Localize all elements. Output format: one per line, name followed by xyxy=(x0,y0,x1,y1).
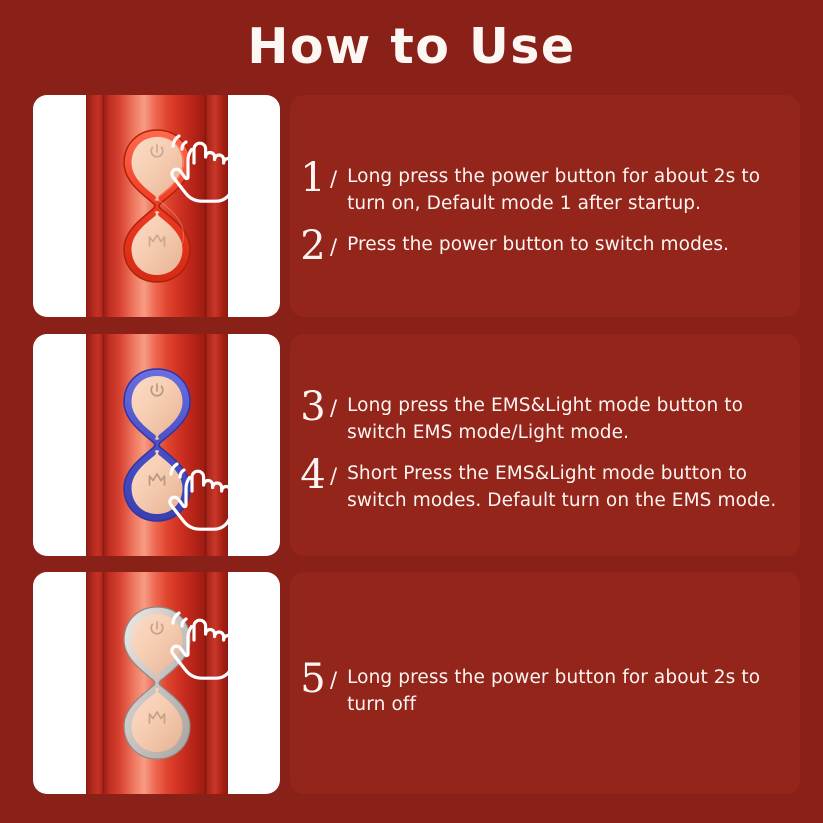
step-item: 3 / Long press the EMS&Light mode button… xyxy=(298,392,782,446)
step-item: 5 / Long press the power button for abou… xyxy=(298,664,782,718)
tap-hand-icon-1 xyxy=(169,130,247,210)
ems-light-icon[interactable] xyxy=(146,709,167,731)
power-icon[interactable] xyxy=(148,382,165,406)
device-photo-step-3 xyxy=(33,572,280,794)
device-photo-step-2 xyxy=(33,334,280,556)
instruction-text-panel-1: 1 / Long press the power button for abou… xyxy=(290,95,800,317)
instruction-row-2: 3 / Long press the EMS&Light mode button… xyxy=(0,334,823,559)
step-number: 2 xyxy=(298,227,328,265)
step-text: Long press the power button for about 2s… xyxy=(347,664,782,718)
step-text: Long press the power button for about 2s… xyxy=(347,163,782,217)
step-text: Press the power button to switch modes. xyxy=(347,231,782,258)
step-separator: / xyxy=(330,396,337,420)
instruction-text-panel-3: 5 / Long press the power button for abou… xyxy=(290,572,800,794)
step-number: 3 xyxy=(298,388,328,426)
step-item: 4 / Short Press the EMS&Light mode butto… xyxy=(298,460,782,514)
step-number: 1 xyxy=(298,159,328,197)
device-photo-step-1 xyxy=(33,95,280,317)
step-number: 4 xyxy=(298,456,328,494)
instruction-text-panel-2: 3 / Long press the EMS&Light mode button… xyxy=(290,334,800,556)
step-separator: / xyxy=(330,167,337,191)
power-icon[interactable] xyxy=(148,143,165,167)
page-title: How to Use xyxy=(0,22,823,71)
step-text: Short Press the EMS&Light mode button to… xyxy=(347,460,782,514)
ems-light-icon[interactable] xyxy=(146,232,167,254)
ems-light-icon[interactable] xyxy=(146,471,167,493)
step-number: 5 xyxy=(298,660,328,698)
step-item: 1 / Long press the power button for abou… xyxy=(298,163,782,217)
step-separator: / xyxy=(330,464,337,488)
instruction-row-1: 1 / Long press the power button for abou… xyxy=(0,95,823,320)
step-separator: / xyxy=(330,668,337,692)
power-icon[interactable] xyxy=(148,620,165,644)
instruction-row-3: 5 / Long press the power button for abou… xyxy=(0,572,823,797)
step-item: 2 / Press the power button to switch mod… xyxy=(298,231,782,265)
tap-hand-icon-3 xyxy=(169,607,247,687)
step-separator: / xyxy=(330,235,337,259)
step-text: Long press the EMS&Light mode button to … xyxy=(347,392,782,446)
tap-hand-icon-2 xyxy=(167,458,245,538)
